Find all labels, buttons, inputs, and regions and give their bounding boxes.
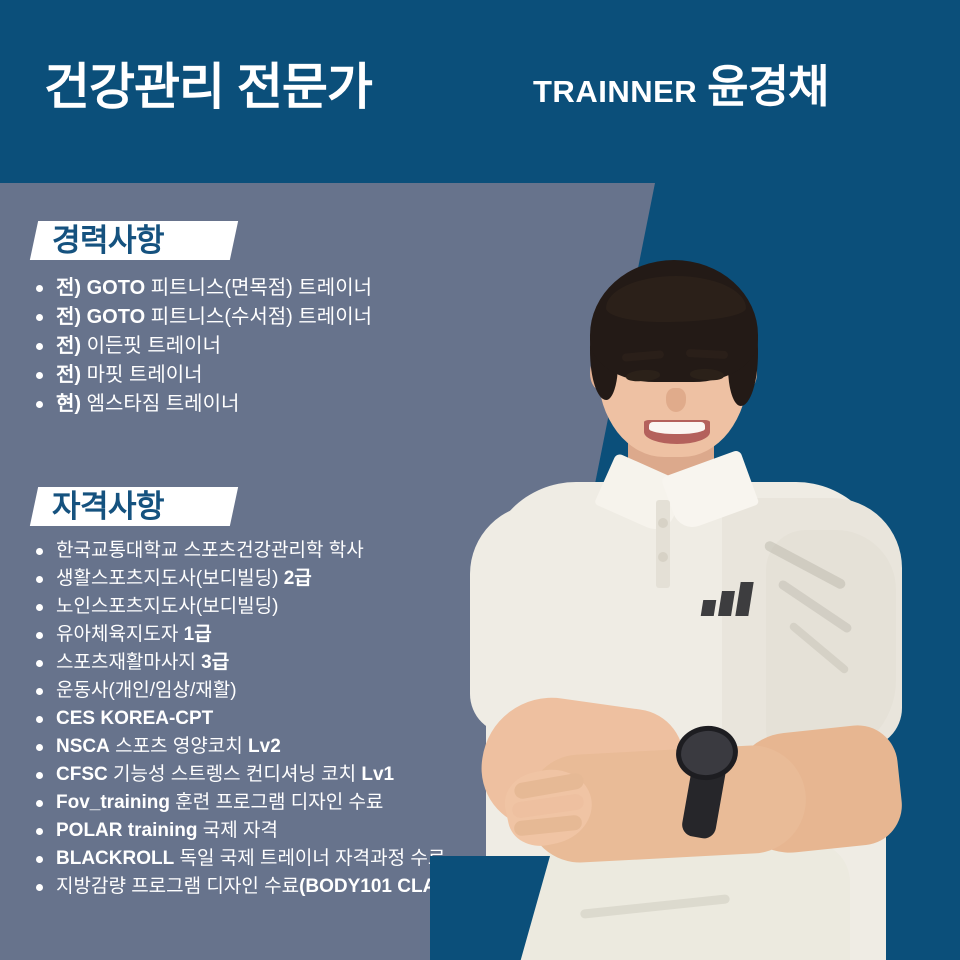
list-item: 운동사(개인/임상/재활) <box>28 677 468 705</box>
trainer-portrait-photo <box>430 230 960 960</box>
list-item: 지방감량 프로그램 디자인 수료(BODY101 CLASS) <box>28 873 468 901</box>
nose <box>666 388 686 412</box>
page-title: 건강관리 전문가 <box>44 62 372 112</box>
section-heading-career: 경력사항 <box>34 221 234 260</box>
poster-header: 건강관리 전문가 TRAINNER윤경채 <box>0 0 960 183</box>
list-item: 스포츠재활마사지 3급 <box>28 649 468 677</box>
trainer-identity: TRAINNER윤경채 <box>533 64 828 109</box>
list-item: NSCA 스포츠 영양코치 Lv2 <box>28 733 468 761</box>
section-banner-certifications: 자격사항 <box>30 487 238 526</box>
list-item: 전) 마핏 트레이너 <box>28 361 372 390</box>
shirt-button-bottom <box>658 552 668 562</box>
list-item: Fov_training 훈련 프로그램 디자인 수료 <box>28 789 468 817</box>
shirt-button-top <box>658 518 668 528</box>
teeth <box>649 422 705 434</box>
section-banner-career: 경력사항 <box>30 221 238 260</box>
list-item: 현) 엠스타짐 트레이너 <box>28 390 372 419</box>
list-item: 한국교통대학교 스포츠건강관리학 학사 <box>28 537 468 565</box>
adidas-logo-icon <box>702 582 758 616</box>
list-item: BLACKROLL 독일 국제 트레이너 자격과정 수료 <box>28 845 468 873</box>
trainer-name: 윤경채 <box>707 61 828 112</box>
list-item: POLAR training 국제 자격 <box>28 817 468 845</box>
list-item: CFSC 기능성 스트렝스 컨디셔닝 코치 Lv1 <box>28 761 468 789</box>
list-item: 전) GOTO 피트니스(수서점) 트레이너 <box>28 303 372 332</box>
list-item: CES KOREA-CPT <box>28 705 468 733</box>
list-item: 생활스포츠지도사(보디빌딩) 2급 <box>28 565 468 593</box>
career-list: 전) GOTO 피트니스(면목점) 트레이너 전) GOTO 피트니스(수서점)… <box>28 274 372 419</box>
list-item: 유아체육지도자 1급 <box>28 621 468 649</box>
section-heading-certifications: 자격사항 <box>34 487 234 526</box>
list-item: 전) 이든핏 트레이너 <box>28 332 372 361</box>
list-item: 노인스포츠지도사(보디빌딩) <box>28 593 468 621</box>
shirt-placket <box>656 500 670 588</box>
role-label: TRAINNER <box>533 74 697 109</box>
trainer-profile-poster: 건강관리 전문가 TRAINNER윤경채 경력사항 전) GOTO 피트니스(면… <box>0 0 960 960</box>
certification-list: 한국교통대학교 스포츠건강관리학 학사 생활스포츠지도사(보디빌딩) 2급 노인… <box>28 537 468 901</box>
list-item: 전) GOTO 피트니스(면목점) 트레이너 <box>28 274 372 303</box>
sleeve-right <box>766 530 896 760</box>
